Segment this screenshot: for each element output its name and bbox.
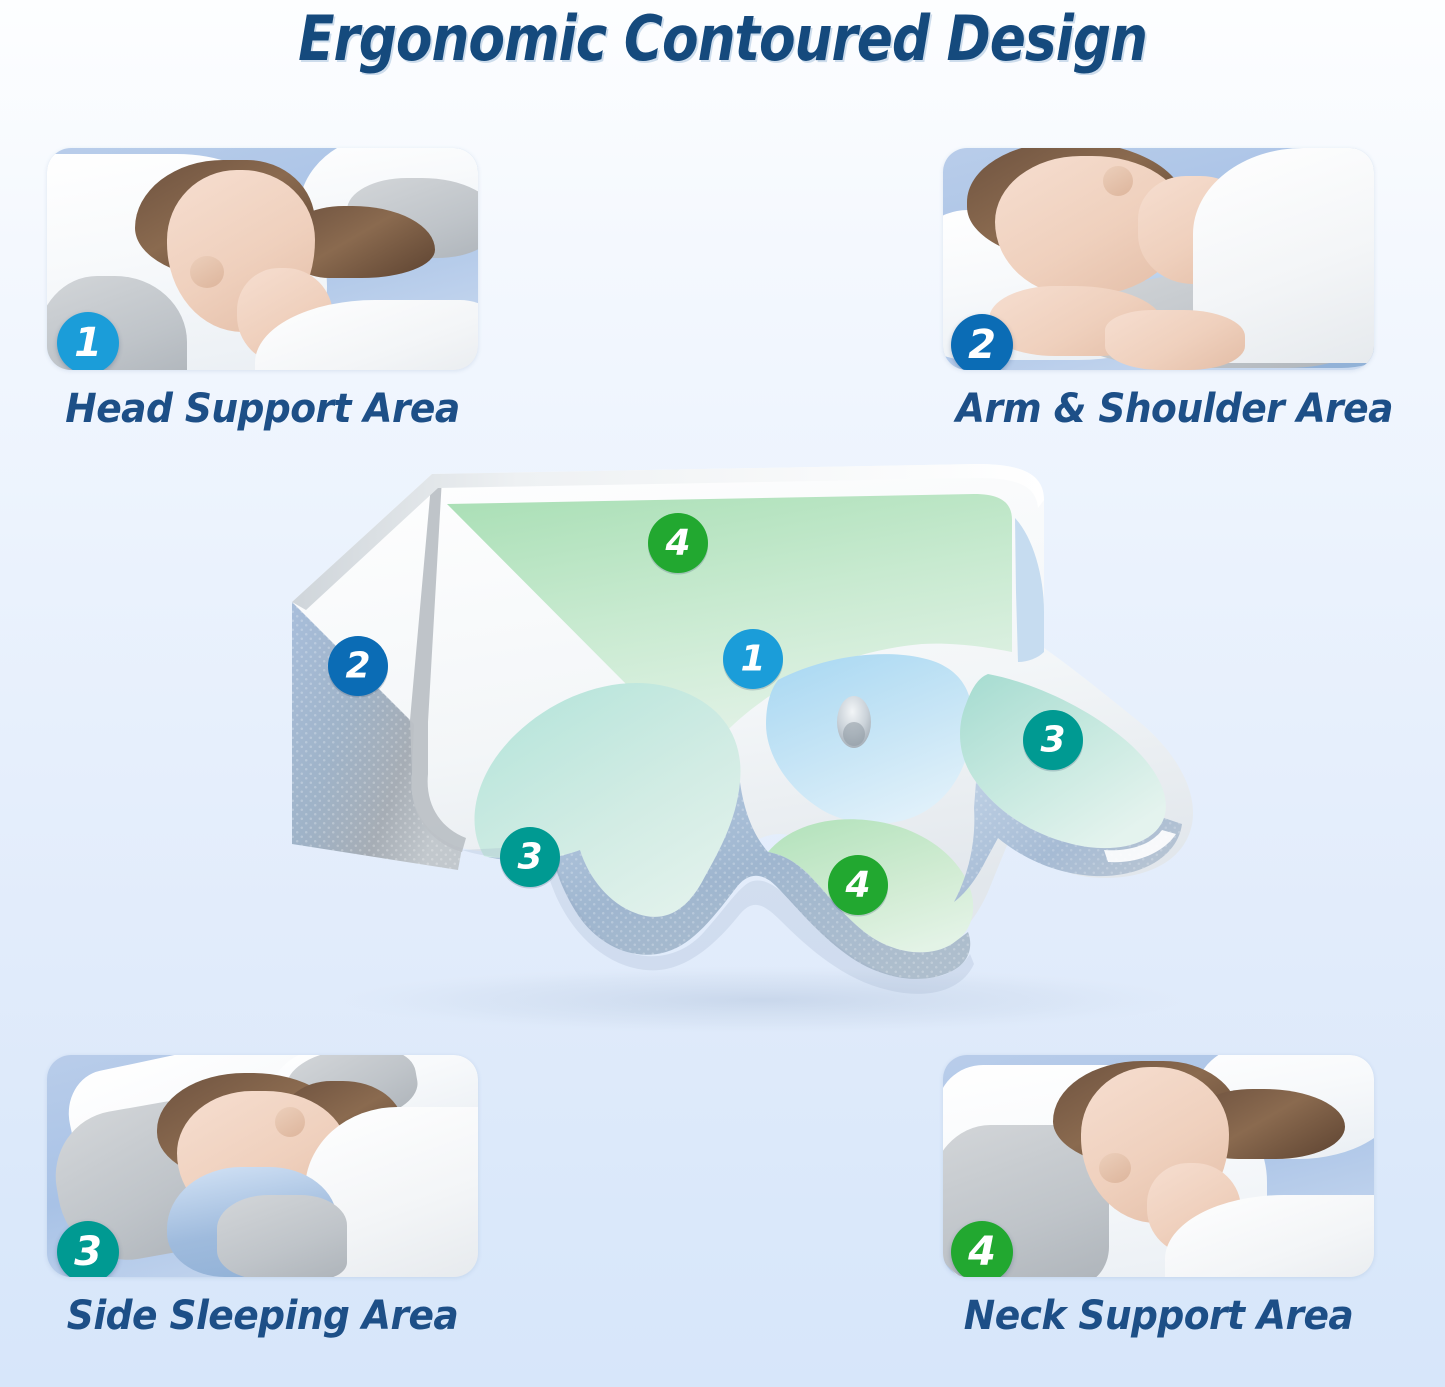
panel-badge-4: 4 [951, 1221, 1013, 1277]
caption-side-sleeping: Side Sleeping Area [60, 1293, 465, 1339]
diagram-marker-head-cradle: 1 [723, 629, 783, 691]
marker-label: 1 [740, 639, 765, 680]
pillow-vent-hole-shadow [843, 722, 865, 746]
pillow-zone-diagram: 421334 [232, 452, 1232, 1032]
marker-label: 4 [844, 865, 870, 906]
photo-neck-support: 4 [943, 1055, 1374, 1277]
feature-panel-side-sleeping: 3 Side Sleeping Area [47, 1055, 478, 1339]
marker-label: 2 [345, 646, 370, 687]
diagram-marker-left-shoulder-zone: 3 [500, 827, 560, 889]
marker-label: 4 [664, 523, 690, 564]
diagram-marker-left-side-wing: 2 [328, 636, 388, 698]
marker-label: 3 [1040, 720, 1065, 761]
panel-badge-1: 1 [57, 312, 119, 370]
feature-panel-head-support: 1 Head Support Area [47, 148, 478, 432]
diagram-marker-right-side-wing: 3 [1023, 710, 1083, 772]
panel-badge-3: 3 [57, 1221, 119, 1277]
feature-panel-neck-support: 4 Neck Support Area [943, 1055, 1374, 1339]
feature-panel-arm-shoulder: 2 Arm & Shoulder Area [943, 148, 1374, 432]
marker-label: 3 [517, 837, 542, 878]
diagram-shadow [342, 966, 1182, 1032]
photo-side-sleeping: 3 [47, 1055, 478, 1277]
diagram-marker-upper-back-panel: 4 [648, 513, 708, 575]
caption-head-support: Head Support Area [60, 386, 465, 432]
caption-arm-shoulder: Arm & Shoulder Area [956, 386, 1361, 432]
panel-badge-2: 2 [951, 314, 1013, 370]
photo-head-support: 1 [47, 148, 478, 370]
page-title: Ergonomic Contoured Design [101, 2, 1344, 75]
photo-arm-shoulder: 2 [943, 148, 1374, 370]
diagram-marker-neck-roll: 4 [828, 855, 888, 917]
caption-neck-support: Neck Support Area [956, 1293, 1361, 1339]
